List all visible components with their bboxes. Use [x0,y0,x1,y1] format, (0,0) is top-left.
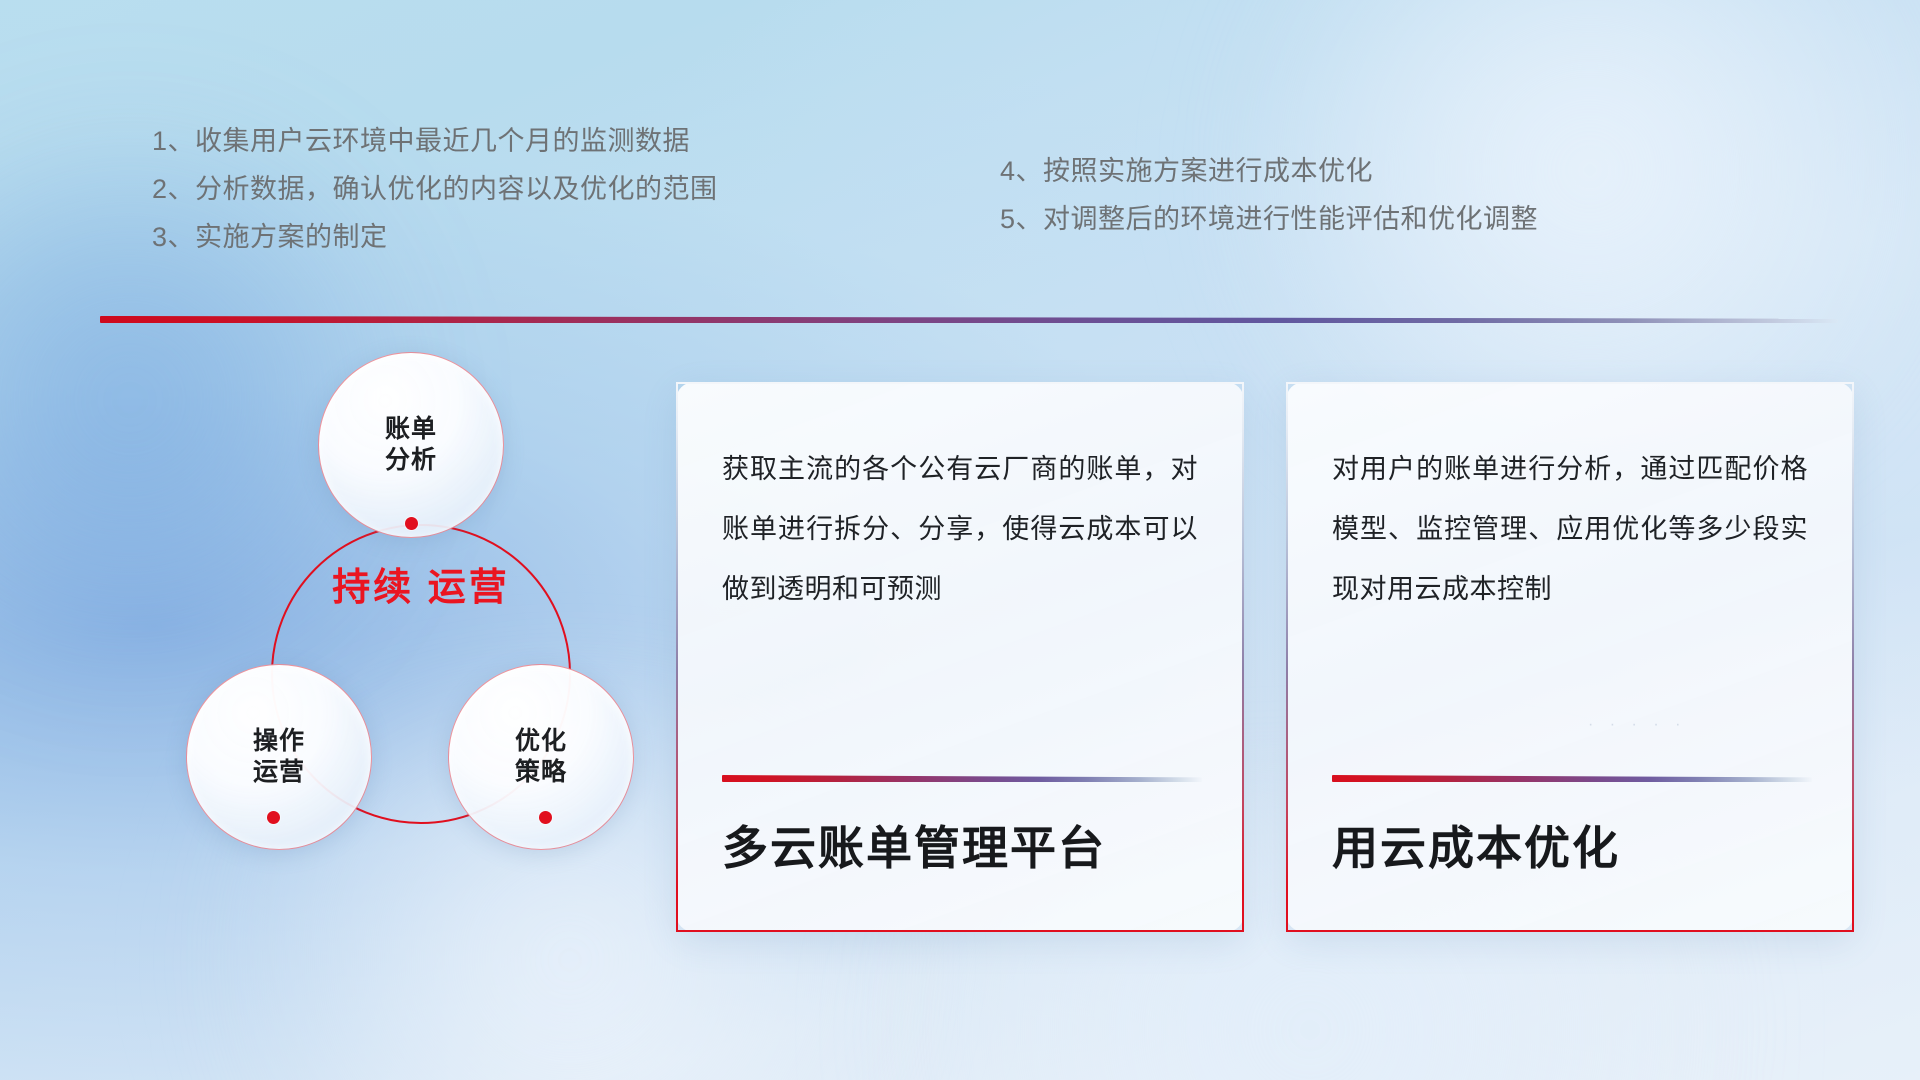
step-item: 2、分析数据，确认优化的内容以及优化的范围 [152,176,718,203]
venn-node-dot-top [405,517,418,530]
feature-card-body: 对用户的账单进行分析，通过匹配价格模型、监控管理、应用优化等多少段实现对用云成本… [1332,440,1808,684]
venn-bubble-label-line1: 账单 [385,414,437,446]
venn-bubble-label-line2: 运营 [253,757,305,789]
feature-card-divider-rule [722,775,1202,782]
venn-diagram: 持续 运营 账单 分析 操作 运营 优化 策略 [96,352,636,952]
steps-list-left: 1、收集用户云环境中最近几个月的监测数据 2、分析数据，确认优化的内容以及优化的… [152,128,718,272]
feature-card-cost-optimization[interactable]: 对用户的账单进行分析，通过匹配价格模型、监控管理、应用优化等多少段实现对用云成本… [1286,382,1854,932]
feature-card-title: 用云成本优化 [1332,823,1620,874]
step-item: 3、实施方案的制定 [152,224,718,251]
venn-node-dot-bottom-left [267,811,280,824]
venn-bubble-operations[interactable]: 操作 运营 [186,664,372,850]
feature-card-title: 多云账单管理平台 [722,823,1106,874]
feature-card-watermark: · · · · · [1588,716,1686,734]
step-item: 4、按照实施方案进行成本优化 [1000,158,1538,185]
feature-card-divider-rule [1332,775,1812,782]
step-item: 1、收集用户云环境中最近几个月的监测数据 [152,128,718,155]
slide-canvas: 1、收集用户云环境中最近几个月的监测数据 2、分析数据，确认优化的内容以及优化的… [0,0,1920,1080]
steps-list-right: 4、按照实施方案进行成本优化 5、对调整后的环境进行性能评估和优化调整 [1000,158,1538,254]
venn-bubble-label-line1: 优化 [515,726,567,758]
venn-node-dot-bottom-right [539,811,552,824]
venn-bubble-label-line2: 策略 [515,757,567,789]
feature-card-body: 获取主流的各个公有云厂商的账单，对账单进行拆分、分享，使得云成本可以做到透明和可… [722,440,1198,684]
venn-center-title-line1: 持续 [332,567,414,609]
venn-center-title: 持续 运营 [271,566,571,611]
venn-bubble-label-line2: 分析 [385,445,437,477]
venn-bubble-billing-analysis[interactable]: 账单 分析 [318,352,504,538]
venn-bubble-label-line1: 操作 [253,726,305,758]
feature-card-multicloud-billing[interactable]: 获取主流的各个公有云厂商的账单，对账单进行拆分、分享，使得云成本可以做到透明和可… [676,382,1244,932]
header-divider-rule [100,316,1838,323]
venn-center-title-line2: 运营 [428,567,510,609]
step-item: 5、对调整后的环境进行性能评估和优化调整 [1000,206,1538,233]
